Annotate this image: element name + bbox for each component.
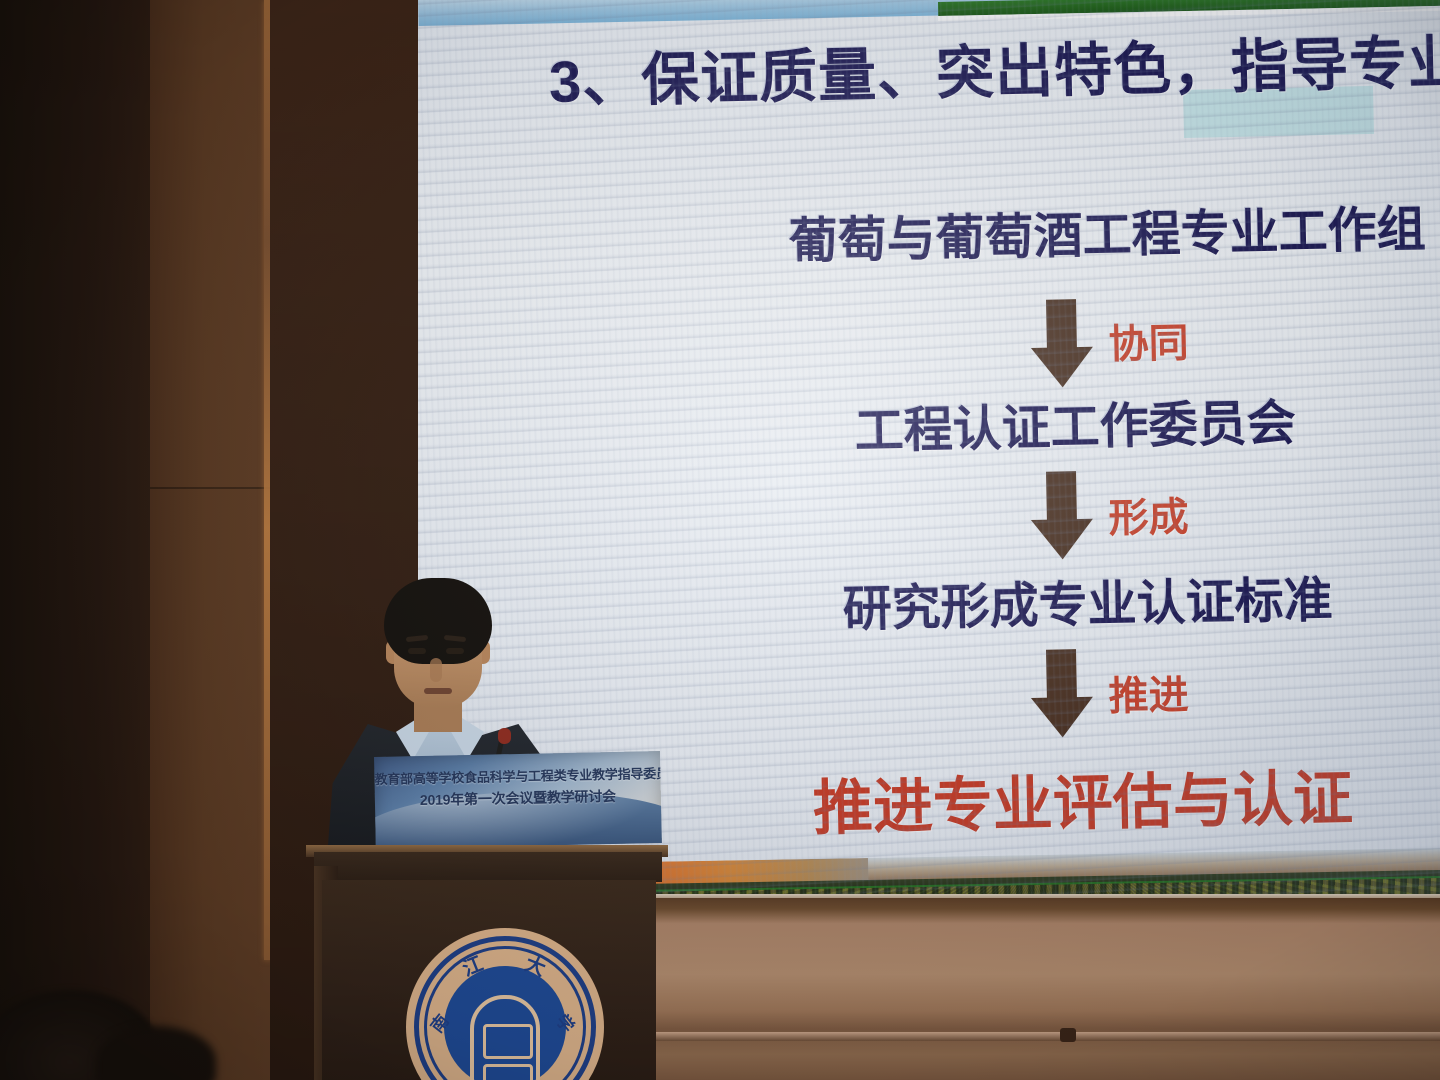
flow-node-1: 葡萄与葡萄酒工程专业工作组 <box>788 190 1426 273</box>
microphone-head-icon <box>498 728 511 744</box>
arrow-label-1: 协同 <box>1108 310 1189 370</box>
photo-scene: 3、保证质量、突出特色，指导专业认证 葡萄与葡萄酒工程专业工作组 协同 工程认证… <box>0 0 1440 1080</box>
stage-floor-fixture <box>1060 1028 1076 1042</box>
down-arrow-icon-1 <box>1030 299 1094 388</box>
speaker-mouth <box>424 688 452 694</box>
speaker-nose <box>430 658 442 682</box>
room-wall-seam-horizontal <box>150 487 270 489</box>
speaker-eye-left <box>408 648 426 654</box>
slide-vineyard-photo <box>638 848 1440 900</box>
down-arrow-icon-2 <box>1030 471 1094 560</box>
room-wall-left-dark <box>0 0 160 1080</box>
down-arrow-icon-3 <box>1030 649 1094 738</box>
podium-banner-line-1: 教育部高等学校食品科学与工程类专业教学指导委员会 <box>374 763 660 788</box>
podium-top <box>314 852 662 882</box>
emblem-center-glyph <box>470 995 540 1080</box>
speaker-eye-right <box>446 648 464 654</box>
podium-banner: 教育部高等学校食品科学与工程类专业教学指导委员会 2019年第一次会议暨教学研讨… <box>374 751 662 849</box>
flow-node-2: 工程认证工作委员会 <box>854 384 1296 463</box>
speaker-hair <box>384 578 492 664</box>
room-wall-panel <box>150 0 270 1080</box>
arrow-label-2: 形成 <box>1108 484 1189 544</box>
flow-node-3: 研究形成专业认证标准 <box>842 561 1333 641</box>
flow-node-4-result: 推进专业评估与认证 <box>812 750 1354 847</box>
arrow-label-3: 推进 <box>1108 662 1189 722</box>
